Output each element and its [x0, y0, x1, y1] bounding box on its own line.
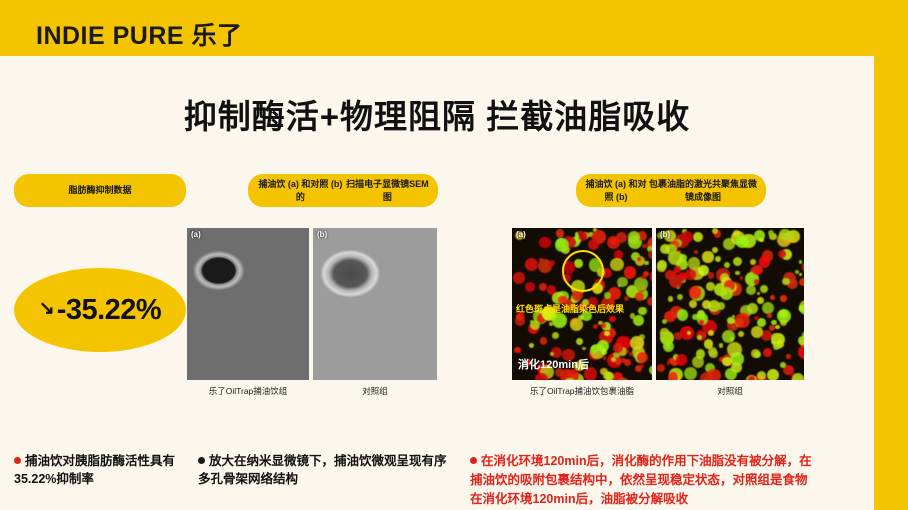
arrow-down-icon: ↘: [39, 297, 55, 320]
bullet-dot-icon: [14, 457, 21, 464]
image-caption-c: 乐了OilTrap捕油饮包裹油脂: [512, 385, 652, 397]
image-caption-d: 对照组: [656, 385, 804, 397]
image-confocal-b: (b): [656, 228, 804, 380]
bullet-item-2: 放大在纳米显微镜下，捕油饮微观呈现有序多孔骨架网络结构: [198, 452, 450, 488]
tile-corner-label: (b): [317, 230, 327, 239]
stat-badge: ↘ -35.22%: [14, 268, 186, 352]
sem-texture-a: [187, 228, 309, 380]
tile-corner-label: (a): [516, 230, 526, 239]
highlight-circle-annotation: [562, 250, 604, 292]
image-confocal-a: (a) 红色斑点是油脂染色后效果 消化120min后: [512, 228, 652, 380]
bullet-item-3: 在消化环境120min后，消化酶的作用下油脂没有被分解，在捕油饮的吸附包裹结构中…: [470, 452, 815, 509]
pill-caption-enzyme-data: 脂肪酶抑制数据: [14, 174, 186, 207]
tile-corner-label: (b): [660, 230, 670, 239]
image-caption-b: 对照组: [313, 385, 437, 397]
stat-badge-inner: ↘ -35.22%: [39, 294, 161, 327]
confocal-texture-b: [656, 228, 804, 380]
brand-logo: INDIE PURE 乐了: [36, 16, 243, 52]
bullet-item-1: 捕油饮对胰脂肪酶活性具有35.22%抑制率: [14, 452, 189, 488]
page-title: 抑制酶活+物理阻隔 拦截油脂吸收: [0, 90, 874, 138]
image-sem-b: (b): [313, 228, 437, 380]
sem-texture-b: [313, 228, 437, 380]
confocal-blobs-b: [656, 228, 804, 380]
slide-root: INDIE PURE 乐了 抑制酶活+物理阻隔 拦截油脂吸收 脂肪酶抑制数据 捕…: [0, 0, 908, 510]
bullet-text: 放大在纳米显微镜下，捕油饮微观呈现有序多孔骨架网络结构: [198, 454, 447, 486]
bullet-dot-icon: [198, 457, 205, 464]
bullet-dot-icon: [470, 457, 477, 464]
red-dot-annotation: 红色斑点是油脂染色后效果: [516, 302, 624, 315]
bullet-text: 捕油饮对胰脂肪酶活性具有35.22%抑制率: [14, 454, 175, 486]
bullet-text: 在消化环境120min后，消化酶的作用下油脂没有被分解，在捕油饮的吸附包裹结构中…: [470, 454, 812, 506]
image-caption-a: 乐了OilTrap捕油饮组: [187, 385, 309, 397]
header-bar: INDIE PURE 乐了: [0, 0, 908, 56]
content-panel: 抑制酶活+物理阻隔 拦截油脂吸收 脂肪酶抑制数据 捕油饮 (a) 和对照 (b)…: [0, 56, 874, 510]
tile-corner-label: (a): [191, 230, 201, 239]
digest-time-annotation: 消化120min后: [518, 356, 589, 372]
image-sem-a: (a): [187, 228, 309, 380]
pill-caption-confocal: 捕油饮 (a) 和对照 (b)包裹油脂的激光共聚焦显微镜成像图: [576, 174, 766, 207]
stat-value: -35.22%: [57, 294, 162, 327]
pill-caption-sem: 捕油饮 (a) 和对照 (b) 的扫描电子显微镜SEM图: [248, 174, 438, 207]
